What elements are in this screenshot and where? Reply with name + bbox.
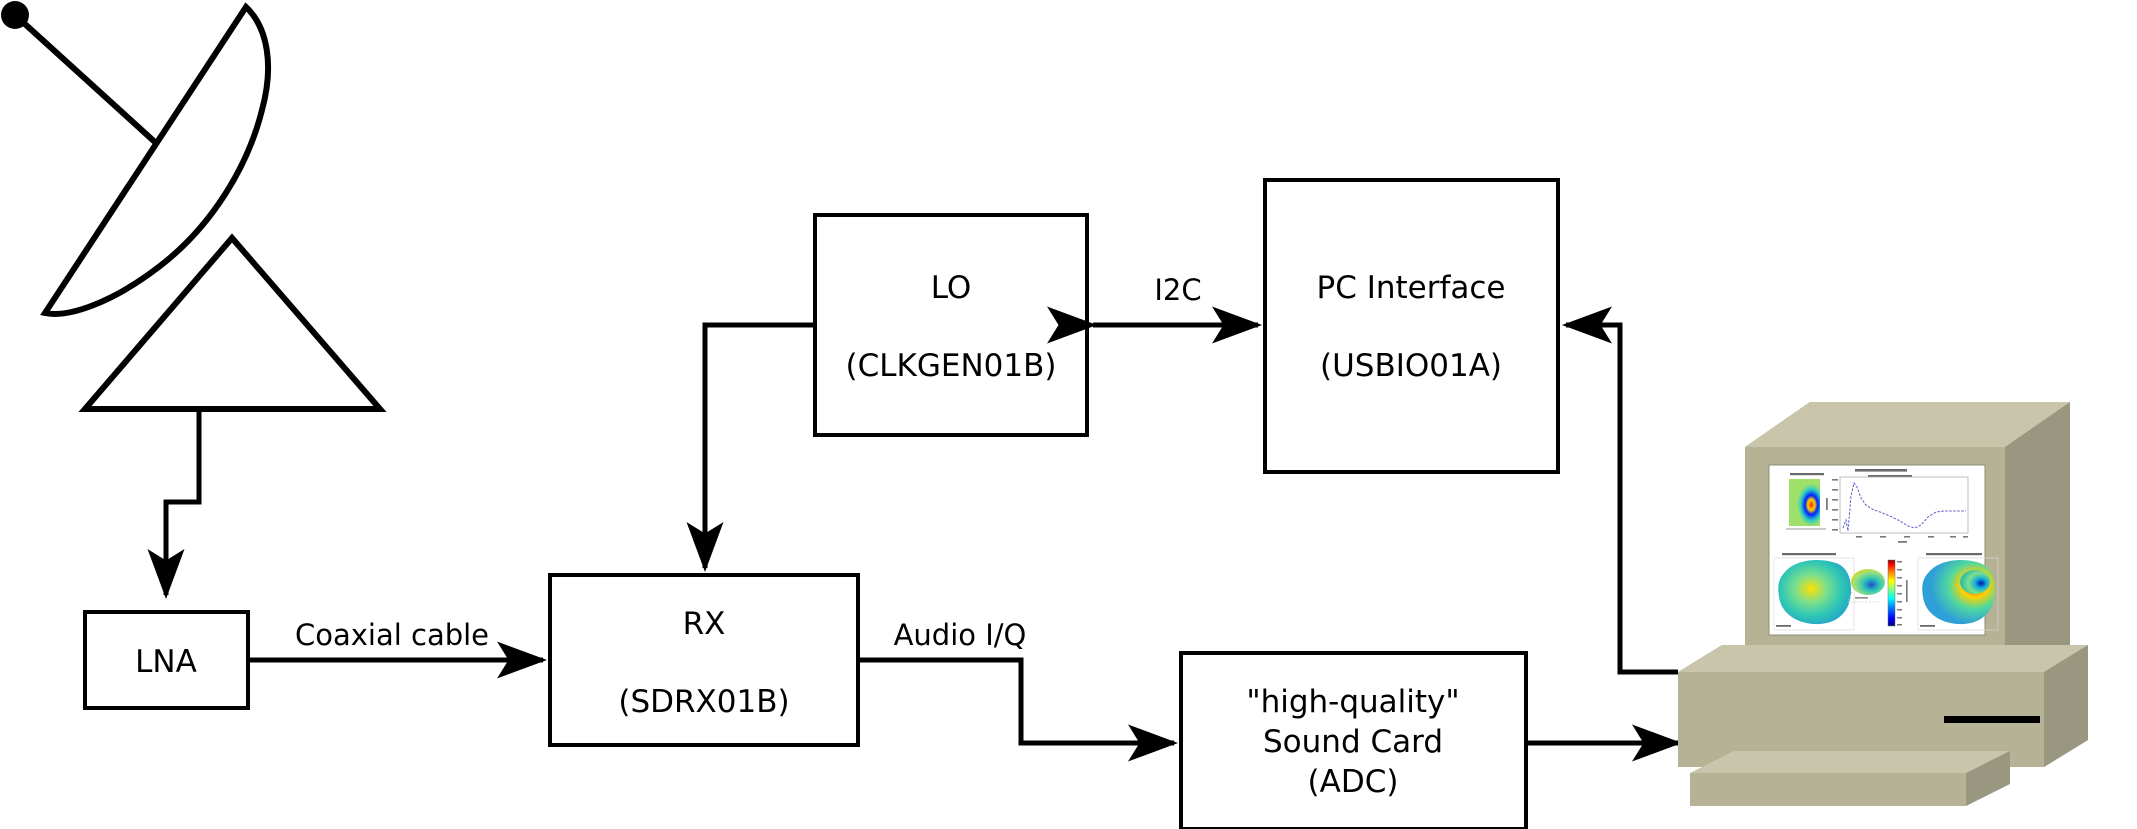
antenna-dish — [45, 7, 268, 314]
rx-label-line1: RX — [683, 606, 726, 642]
antenna-feed-arm — [15, 15, 178, 163]
audio-iq-line — [858, 660, 1174, 743]
floppy-drive-slot — [1944, 716, 2040, 723]
panel-caption-bottom-right — [1926, 553, 1982, 555]
rx-label-line2: (SDRX01B) — [618, 684, 789, 720]
desktop-computer — [1678, 402, 2088, 806]
panel-caption-top-left — [1790, 473, 1824, 475]
colorbar-label — [1906, 580, 1908, 602]
antenna-to-lna-cable — [166, 409, 199, 595]
plot-title — [1855, 469, 1907, 472]
lna-label: LNA — [135, 644, 197, 680]
lo-label-line2: (CLKGEN01B) — [846, 348, 1057, 384]
surface-map-top-left — [1789, 479, 1820, 526]
lo-to-rx-clock-line — [705, 325, 815, 568]
block-diagram-svg: LNA RX (SDRX01B) LO (CLKGEN01B) PC Inter… — [0, 0, 2137, 829]
panel-caption-bottom-left — [1782, 553, 1836, 555]
blob-map-bottom-right — [1922, 560, 1995, 624]
block-pc-interface[interactable] — [1265, 180, 1558, 472]
small-blob-left-label — [1855, 597, 1868, 599]
pc-interface-box[interactable] — [1265, 180, 1558, 472]
sound-card-label-line1: "high-quality" — [1246, 684, 1459, 720]
blob-right-axis-label — [1920, 625, 1935, 627]
line-plot-xlabel — [1898, 541, 1907, 543]
pc-interface-label-line1: PC Interface — [1317, 270, 1506, 306]
lo-box[interactable] — [815, 215, 1087, 435]
small-blob-left — [1851, 569, 1885, 595]
computer-case-top — [1678, 645, 2088, 672]
diagram-canvas: LNA RX (SDRX01B) LO (CLKGEN01B) PC Inter… — [0, 0, 2137, 829]
coax-label: Coaxial cable — [295, 618, 489, 652]
block-lo[interactable] — [815, 215, 1087, 435]
keyboard-front — [1690, 773, 1966, 806]
audio-iq-label: Audio I/Q — [894, 618, 1027, 652]
sound-card-label-line3: (ADC) — [1308, 764, 1399, 800]
blob-map-bottom-left — [1778, 560, 1851, 624]
parabolic-dish-antenna — [1, 1, 380, 595]
colorbar — [1888, 560, 1895, 626]
pc-interface-label-line2: (USBIO01A) — [1320, 348, 1502, 384]
line-plot-ylabel — [1826, 498, 1828, 510]
i2c-label: I2C — [1154, 273, 1201, 307]
blob-left-axis-label — [1776, 625, 1791, 627]
sound-card-label-line2: Sound Card — [1263, 724, 1443, 760]
lo-label-line1: LO — [931, 270, 972, 306]
usb-line — [1566, 325, 1678, 672]
small-blob-right — [1960, 570, 1990, 594]
